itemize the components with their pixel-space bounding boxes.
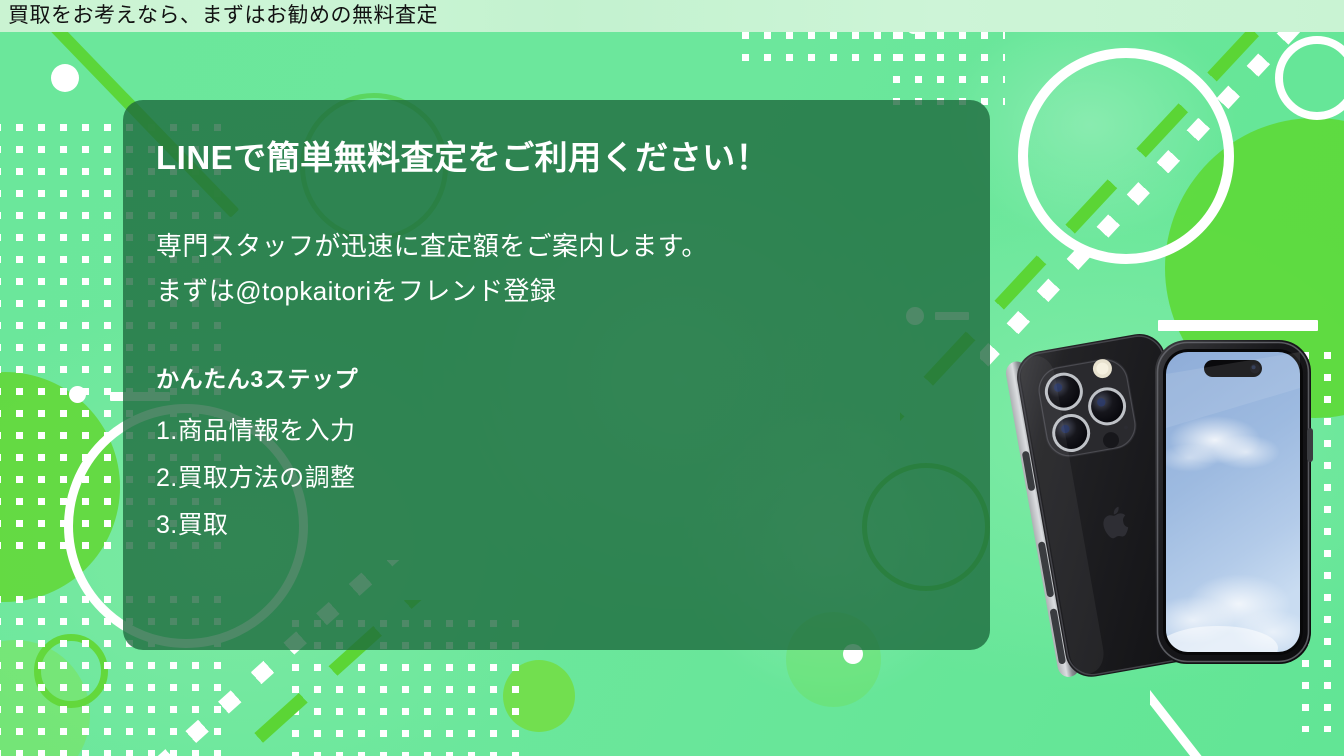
page-title: LINEで簡単無料査定をご利用ください！ (156, 136, 966, 180)
step-item-2: 2.買取方法の調整 (156, 455, 966, 502)
top-announcement-text: 買取をお考えなら、まずはお勧めの無料査定 (8, 2, 438, 30)
promo-banner: LINEで簡単無料査定をご利用ください！ 専門スタッフが迅速に査定額をご案内しま… (0, 0, 1344, 756)
steps-list: 1.商品情報を入力 2.買取方法の調整 3.買取 (156, 408, 966, 549)
step-item-1: 1.商品情報を入力 (156, 408, 966, 455)
product-image-iphones (1003, 332, 1344, 756)
step-item-3: 3.買取 (156, 502, 966, 549)
top-announcement-bar: 買取をお考えなら、まずはお勧めの無料査定 (0, 0, 1344, 32)
promo-card: LINEで簡単無料査定をご利用ください！ 専門スタッフが迅速に査定額をご案内しま… (123, 100, 990, 650)
promo-card-content: LINEで簡単無料査定をご利用ください！ 専門スタッフが迅速に査定額をご案内しま… (156, 136, 966, 549)
steps-heading: かんたん3ステップ (156, 360, 966, 394)
lead-text-line-1: 専門スタッフが迅速に査定額をご案内します。 (156, 224, 966, 269)
lead-text-line-2: まずは@topkaitoriをフレンド登録 (156, 269, 966, 314)
